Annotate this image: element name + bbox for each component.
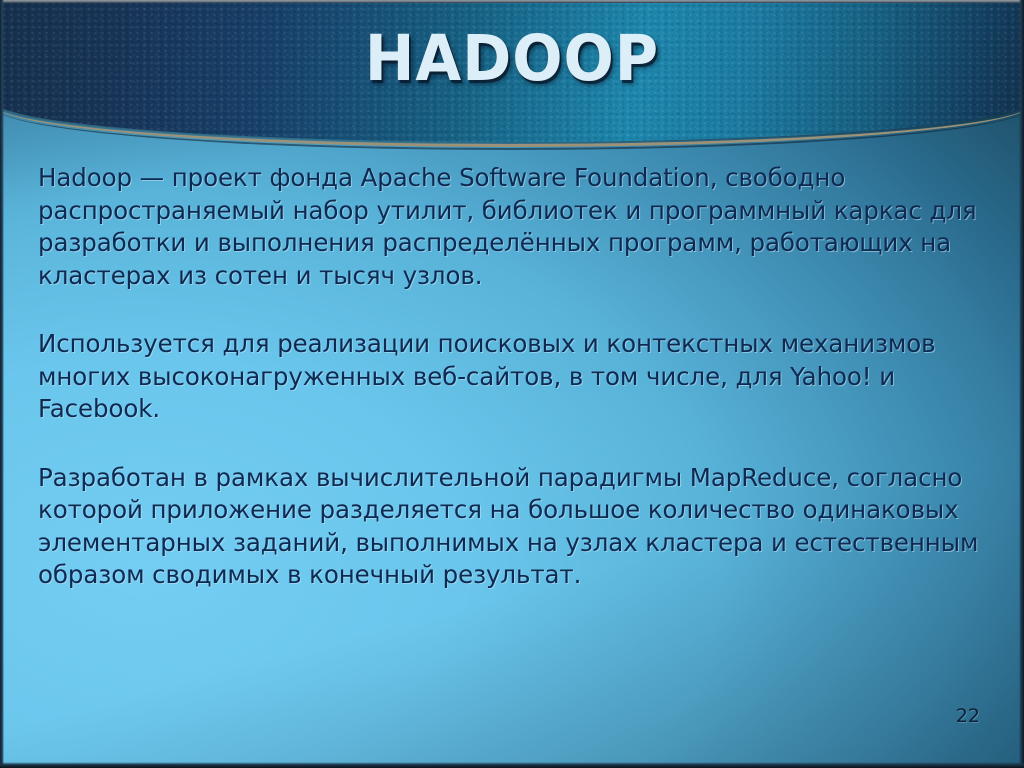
slide-frame-right [1019, 0, 1024, 768]
body-paragraph-1: Hadoop — проект фонда Apache Software Fo… [38, 162, 1006, 292]
body-paragraph-2: Используется для реализации поисковых и … [38, 328, 1006, 426]
slide-body: Hadoop — проект фонда Apache Software Fo… [38, 162, 1006, 592]
title-banner: HADOOP [0, 0, 1024, 150]
body-paragraph-3: Разработан в рамках вычислительной парад… [38, 462, 1006, 592]
presentation-slide: HADOOP Hadoop — проект фонда Apache Soft… [0, 0, 1024, 768]
page-number: 22 [956, 707, 980, 726]
slide-frame-left [0, 0, 4, 768]
slide-title: HADOOP [25, 26, 999, 92]
slide-frame-top [0, 0, 1024, 3]
slide-frame-bottom [0, 762, 1024, 768]
